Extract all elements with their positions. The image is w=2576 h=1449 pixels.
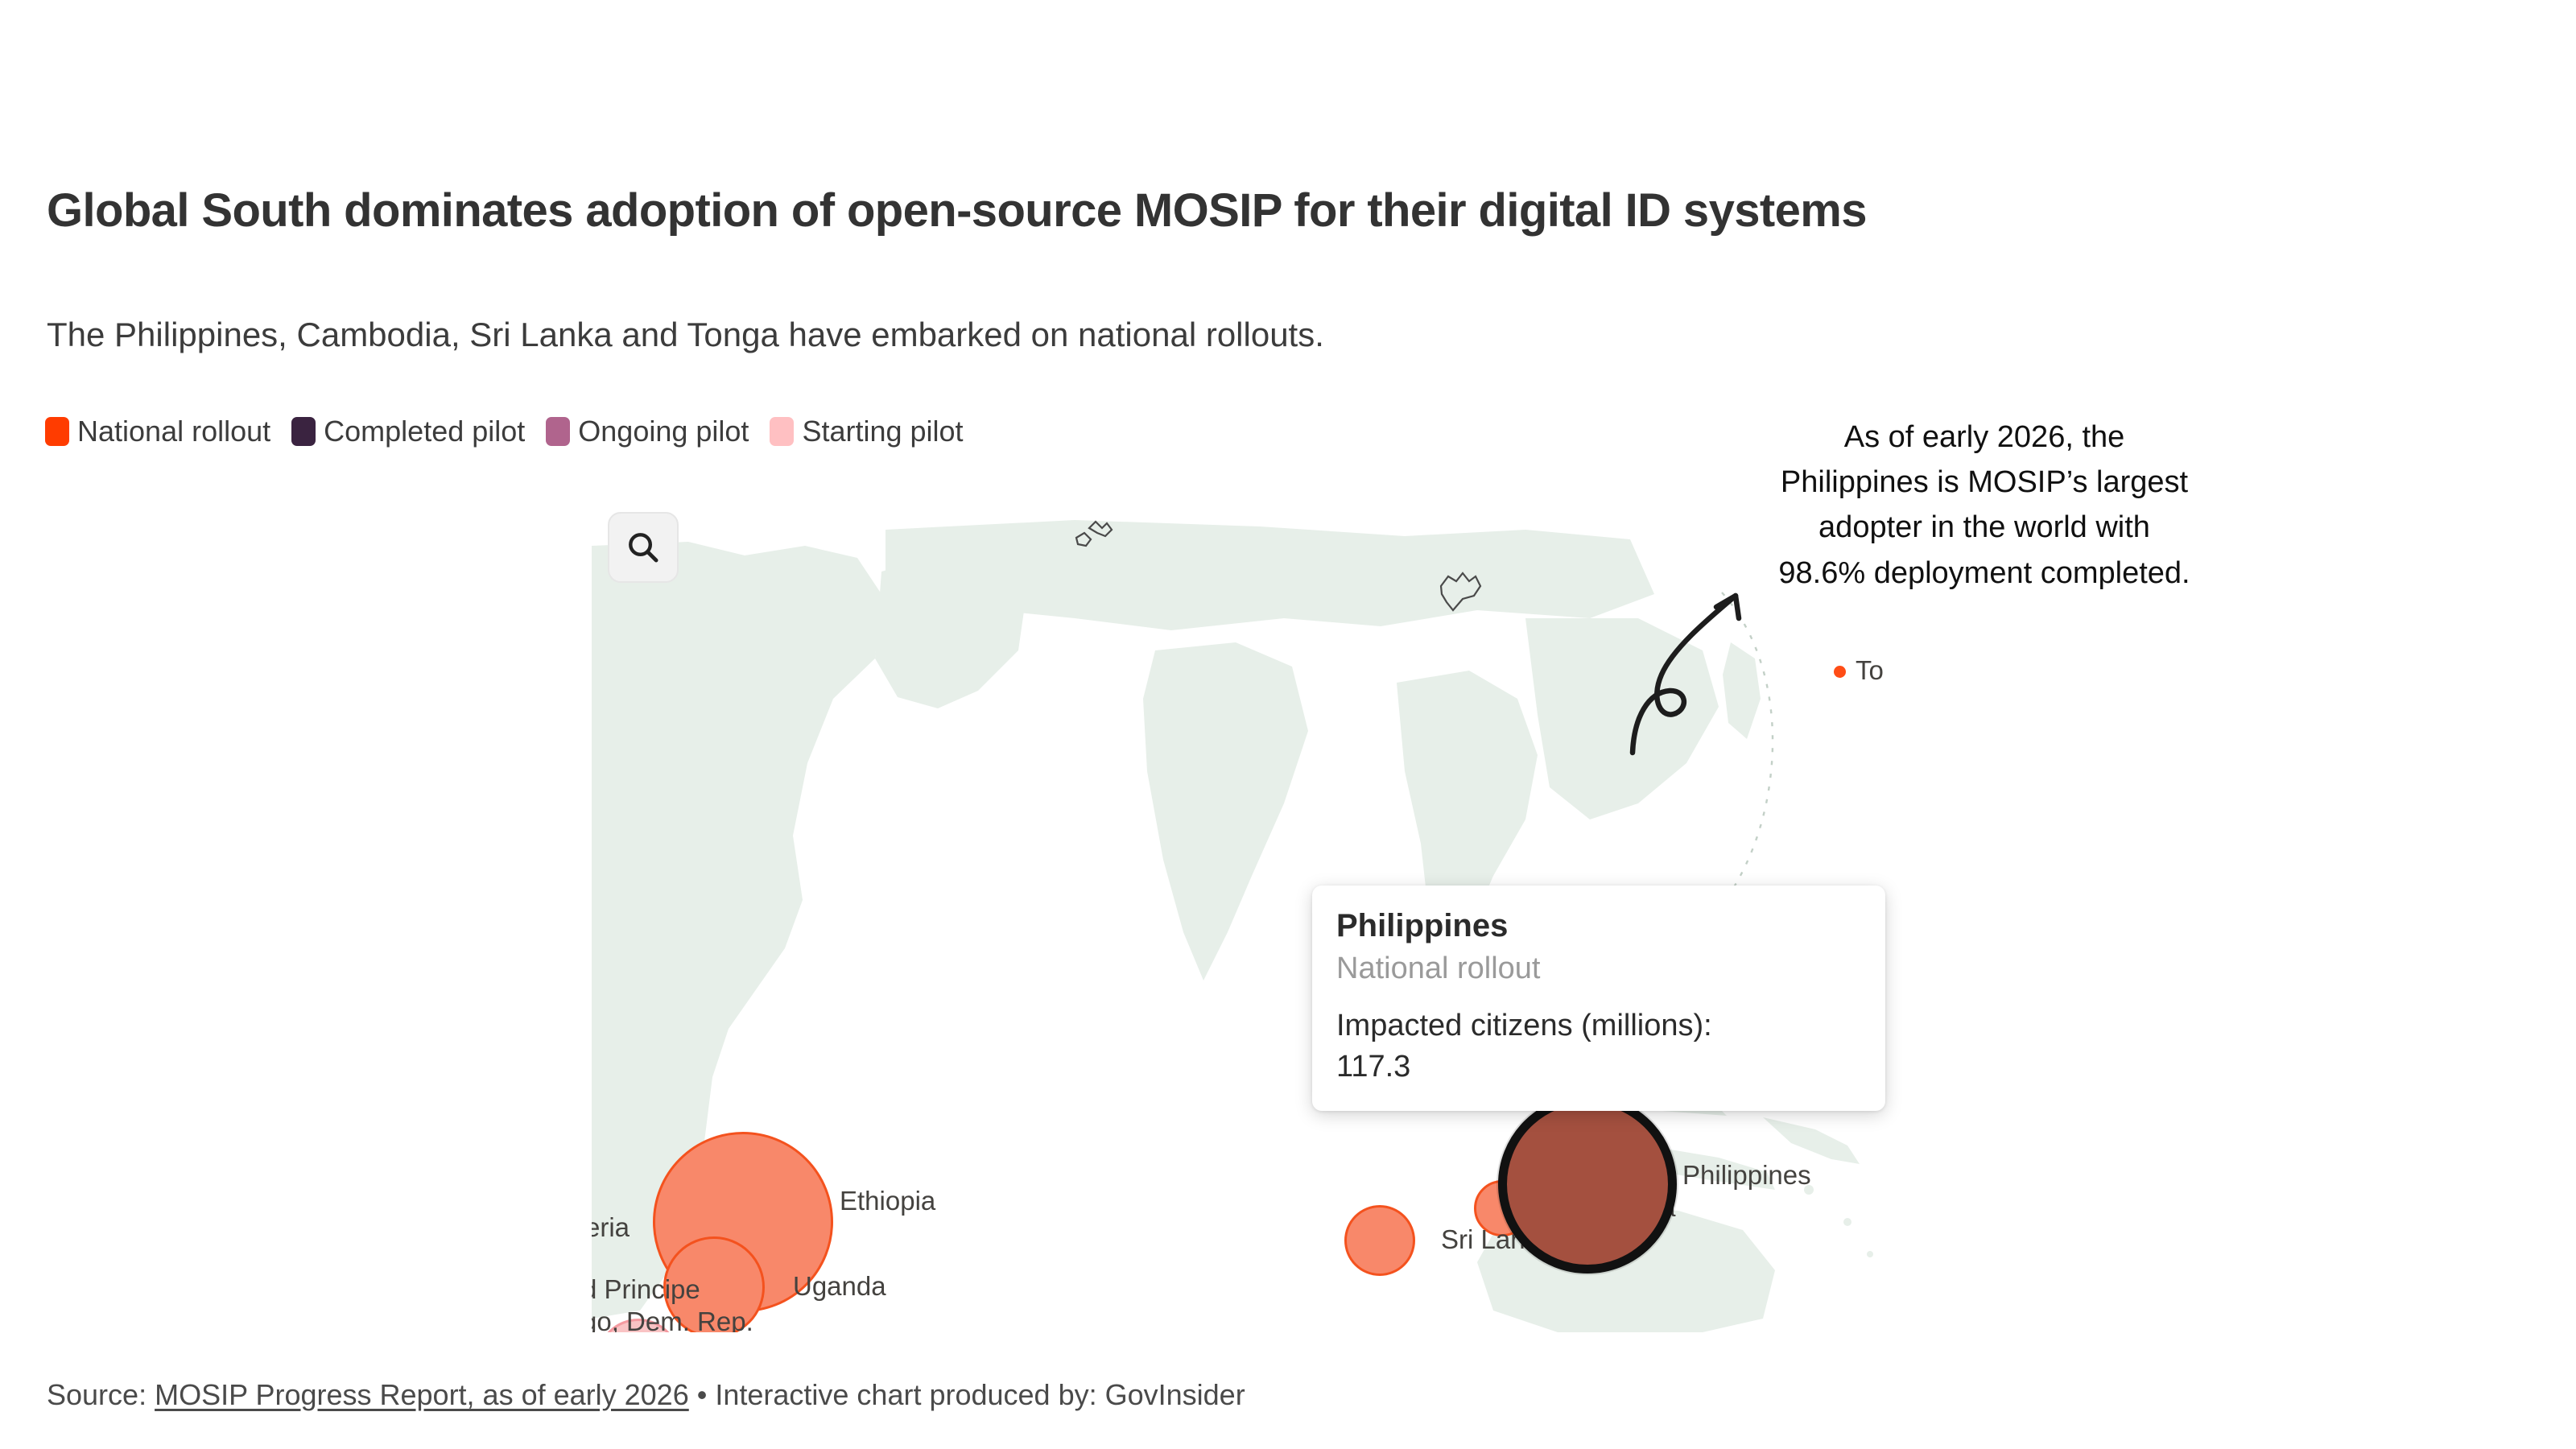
legend-label: National rollout bbox=[77, 415, 270, 448]
legend-label: Completed pilot bbox=[324, 415, 525, 448]
search-icon bbox=[625, 529, 662, 566]
map-search-button[interactable] bbox=[608, 512, 679, 583]
map-label-nigeria: eria bbox=[592, 1212, 630, 1243]
legend-swatch-icon bbox=[45, 417, 69, 446]
annotation-text: As of early 2026, the Philippines is MOS… bbox=[1771, 415, 2198, 596]
map-label-congo: go, Dem. Rep. bbox=[592, 1307, 753, 1332]
legend-label: Starting pilot bbox=[802, 415, 963, 448]
map-label-philippines: Philippines bbox=[1682, 1160, 1811, 1191]
legend-swatch-icon bbox=[770, 417, 794, 446]
page-subtitle: The Philippines, Cambodia, Sri Lanka and… bbox=[47, 316, 1324, 354]
map-bubble-sri-lanka[interactable] bbox=[1344, 1205, 1415, 1276]
legend-swatch-icon bbox=[546, 417, 570, 446]
legend-swatch-icon bbox=[291, 417, 316, 446]
source-suffix: • Interactive chart produced by: GovInsi… bbox=[689, 1378, 1245, 1411]
page-title: Global South dominates adoption of open-… bbox=[47, 184, 1867, 237]
legend-item-ongoing-pilot[interactable]: Ongoing pilot bbox=[546, 415, 749, 448]
tooltip-metric: Impacted citizens (millions): 117.3 bbox=[1336, 1005, 1861, 1087]
legend-item-national-rollout[interactable]: National rollout bbox=[45, 415, 270, 448]
tooltip-metric-label: Impacted citizens (millions): bbox=[1336, 1009, 1712, 1042]
tooltip-metric-value: 117.3 bbox=[1336, 1050, 1410, 1084]
annotation-arrow-icon bbox=[1626, 572, 1803, 757]
legend-label: Ongoing pilot bbox=[578, 415, 749, 448]
map-tooltip: Philippines National rollout Impacted ci… bbox=[1312, 885, 1885, 1111]
source-link[interactable]: MOSIP Progress Report, as of early 2026 bbox=[155, 1378, 689, 1411]
tooltip-status: National rollout bbox=[1336, 952, 1861, 986]
legend: National rolloutCompleted pilotOngoing p… bbox=[45, 415, 985, 448]
map-label-uganda: Uganda bbox=[793, 1271, 886, 1302]
legend-item-completed-pilot[interactable]: Completed pilot bbox=[291, 415, 525, 448]
map-label-sao-tome: d Principe bbox=[592, 1274, 700, 1305]
legend-item-starting-pilot[interactable]: Starting pilot bbox=[770, 415, 963, 448]
map-bubble-philippines[interactable] bbox=[1498, 1095, 1677, 1274]
source-prefix: Source: bbox=[47, 1378, 155, 1411]
source-footer: Source: MOSIP Progress Report, as of ear… bbox=[47, 1378, 1245, 1412]
tooltip-country: Philippines bbox=[1336, 908, 1861, 944]
map-label-ethiopia: Ethiopia bbox=[840, 1186, 935, 1216]
map-dot-tonga[interactable] bbox=[1834, 666, 1846, 678]
map-label-tonga: Tonga bbox=[1856, 655, 1884, 686]
